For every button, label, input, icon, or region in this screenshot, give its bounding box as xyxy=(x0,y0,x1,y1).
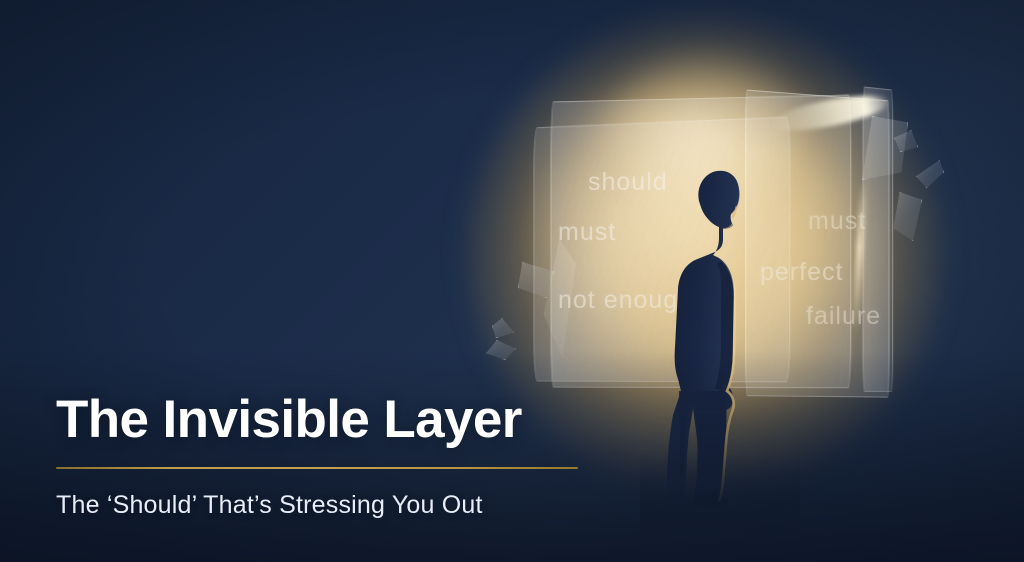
gold-divider xyxy=(56,467,578,469)
headline-block: The Invisible Layer The ‘Should’ That’s … xyxy=(56,392,616,520)
hero-banner: should must not enough must perfect fail… xyxy=(0,0,1024,562)
page-subtitle: The ‘Should’ That’s Stressing You Out xyxy=(56,491,616,520)
page-title: The Invisible Layer xyxy=(56,392,616,448)
glass-word-must-left: must xyxy=(558,218,616,247)
glass-word-must-right: must xyxy=(808,207,866,236)
glass-word-failure: failure xyxy=(806,302,881,331)
